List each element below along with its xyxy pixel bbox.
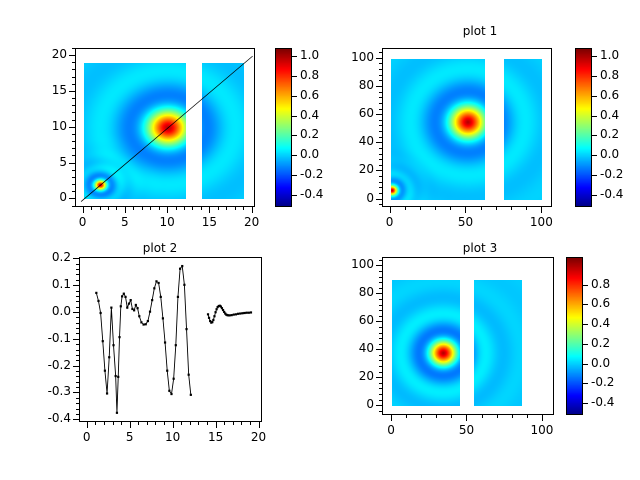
colorbar-tick: [583, 304, 588, 305]
y-minor-tick: [379, 310, 382, 311]
y-minor-tick: [379, 282, 382, 283]
y-major-tick: [376, 114, 382, 115]
y-minor-tick: [76, 414, 79, 415]
x-tick-label: 0: [365, 215, 415, 229]
x-minor-tick: [526, 207, 527, 210]
y-tick-label: 60: [324, 106, 374, 120]
colorbar-tick-label: 0.6: [591, 296, 610, 310]
colorbar-tick-label: 0.8: [591, 277, 610, 291]
y-minor-tick: [76, 371, 79, 372]
y-minor-tick: [76, 301, 79, 302]
y-minor-tick: [76, 382, 79, 383]
x-tick-label: 50: [441, 423, 491, 437]
x-minor-tick: [164, 422, 165, 425]
y-minor-tick: [76, 323, 79, 324]
y-minor-tick: [76, 333, 79, 334]
y-major-tick: [69, 127, 75, 128]
colorbar-tick: [592, 195, 597, 196]
colorbar-tick: [292, 155, 297, 156]
axes-top-right: [382, 48, 552, 207]
y-major-tick: [376, 377, 382, 378]
colorbar-tick-label: -0.4: [591, 395, 614, 409]
y-major-tick: [376, 199, 382, 200]
y-minor-tick: [379, 360, 382, 361]
x-minor-tick: [121, 422, 122, 425]
colorbar-tick: [292, 116, 297, 117]
x-minor-tick: [226, 207, 227, 210]
y-major-tick: [376, 142, 382, 143]
x-major-tick: [130, 422, 131, 428]
x-minor-tick: [113, 422, 114, 425]
colorbar-tick: [583, 403, 588, 404]
x-minor-tick: [497, 415, 498, 418]
y-minor-tick: [72, 62, 75, 63]
x-minor-tick: [184, 207, 185, 210]
axes-bottom-left: [79, 257, 262, 422]
subplot-bottom-left: plot 2 05101520-0.4-0.3-0.2-0.10.00.10.2: [0, 240, 320, 480]
x-minor-tick: [496, 207, 497, 210]
y-minor-tick: [379, 154, 382, 155]
line-series-bottom-left: [80, 258, 262, 422]
colorbar-gradient-top-left: [276, 49, 292, 207]
x-minor-tick: [207, 422, 208, 425]
colorbar-tick-label: 0.2: [591, 336, 610, 350]
y-minor-tick: [379, 69, 382, 70]
x-minor-tick: [241, 422, 242, 425]
subplot-bottom-right: plot 3 050100020406080100 -0.4-0.20.00.2…: [320, 240, 640, 480]
x-minor-tick: [198, 422, 199, 425]
colorbar-bottom-right: [566, 257, 583, 415]
x-minor-tick: [527, 415, 528, 418]
y-minor-tick: [76, 355, 79, 356]
colorbar-tick-label: 1.0: [600, 48, 619, 62]
x-minor-tick: [155, 422, 156, 425]
y-minor-tick: [72, 98, 75, 99]
y-minor-tick: [76, 387, 79, 388]
y-minor-tick: [72, 134, 75, 135]
colorbar-tick-label: 1.0: [300, 48, 319, 62]
y-minor-tick: [72, 48, 75, 49]
figure-canvas: 0510152005101520 -0.4-0.20.00.20.40.60.8…: [0, 0, 640, 480]
x-minor-tick: [250, 422, 251, 425]
y-tick-label: 100: [324, 257, 374, 271]
y-minor-tick: [76, 376, 79, 377]
y-minor-tick: [379, 103, 382, 104]
colorbar-tick-label: -0.2: [591, 375, 614, 389]
colorbar-tick: [292, 135, 297, 136]
y-minor-tick: [72, 69, 75, 70]
y-tick-label: 0: [324, 397, 374, 411]
x-minor-tick: [243, 207, 244, 210]
y-minor-tick: [379, 131, 382, 132]
colorbar-tick-label: 0.0: [591, 356, 610, 370]
y-minor-tick: [379, 182, 382, 183]
x-minor-tick: [150, 207, 151, 210]
y-major-tick: [376, 349, 382, 350]
y-tick-label: 40: [324, 134, 374, 148]
colorbar-top-left: [275, 48, 292, 207]
x-major-tick: [390, 207, 391, 213]
y-minor-tick: [379, 400, 382, 401]
y-minor-tick: [379, 271, 382, 272]
x-minor-tick: [233, 422, 234, 425]
y-major-tick: [69, 198, 75, 199]
x-major-tick: [83, 207, 84, 213]
colorbar-tick: [292, 56, 297, 57]
colorbar-tick: [583, 383, 588, 384]
y-minor-tick: [76, 307, 79, 308]
colorbar-tick: [592, 116, 597, 117]
y-tick-label: 0.1: [21, 277, 71, 291]
y-minor-tick: [379, 80, 382, 81]
y-tick-label: 20: [324, 369, 374, 383]
colorbar-tick: [592, 96, 597, 97]
colorbar-tick: [583, 285, 588, 286]
x-minor-tick: [176, 207, 177, 210]
y-tick-label: 0.0: [21, 304, 71, 318]
x-minor-tick: [406, 415, 407, 418]
y-major-tick: [73, 312, 79, 313]
x-major-tick: [252, 207, 253, 213]
y-minor-tick: [76, 360, 79, 361]
x-tick-label: 50: [440, 215, 490, 229]
y-minor-tick: [379, 193, 382, 194]
y-minor-tick: [72, 184, 75, 185]
x-tick-label: 100: [516, 215, 566, 229]
y-tick-label: 60: [324, 313, 374, 327]
colorbar-tick-label: 0.8: [300, 68, 319, 82]
y-major-tick: [376, 265, 382, 266]
colorbar-tick: [292, 195, 297, 196]
x-major-tick: [167, 207, 168, 213]
y-minor-tick: [72, 206, 75, 207]
colorbar-tick-label: 0.4: [600, 108, 619, 122]
colorbar-tick: [592, 155, 597, 156]
y-tick-label: 0.2: [21, 250, 71, 264]
y-minor-tick: [379, 75, 382, 76]
x-minor-tick: [481, 207, 482, 210]
x-minor-tick: [181, 422, 182, 425]
y-minor-tick: [76, 403, 79, 404]
y-minor-tick: [76, 269, 79, 270]
y-minor-tick: [379, 125, 382, 126]
x-tick-label: 100: [517, 423, 567, 437]
y-minor-tick: [76, 280, 79, 281]
y-minor-tick: [379, 204, 382, 205]
x-tick-label: 0: [366, 423, 416, 437]
y-tick-label: 40: [324, 341, 374, 355]
x-tick-label: 20: [234, 430, 284, 444]
y-minor-tick: [379, 148, 382, 149]
colorbar-tick: [292, 76, 297, 77]
y-minor-tick: [76, 317, 79, 318]
colorbar-gradient-top-right: [576, 49, 592, 207]
colorbar-tick: [592, 56, 597, 57]
y-minor-tick: [379, 372, 382, 373]
colorbar-tick-label: 0.8: [600, 68, 619, 82]
y-major-tick: [69, 91, 75, 92]
colorbar-tick-label: 0.2: [300, 127, 319, 141]
y-tick-label: 100: [324, 50, 374, 64]
colorbar-tick-label: 0.4: [300, 108, 319, 122]
y-tick-label: 0: [17, 190, 67, 204]
y-minor-tick: [72, 170, 75, 171]
y-minor-tick: [72, 120, 75, 121]
colorbar-tick-label: 0.0: [600, 147, 619, 161]
y-minor-tick: [72, 77, 75, 78]
y-major-tick: [73, 392, 79, 393]
colorbar-tick-label: 0.6: [300, 88, 319, 102]
y-minor-tick: [76, 409, 79, 410]
y-minor-tick: [379, 165, 382, 166]
x-minor-tick: [405, 207, 406, 210]
y-minor-tick: [72, 112, 75, 113]
y-minor-tick: [379, 338, 382, 339]
x-minor-tick: [142, 207, 143, 210]
y-tick-label: -0.1: [21, 331, 71, 345]
y-major-tick: [376, 405, 382, 406]
y-tick-label: -0.3: [21, 384, 71, 398]
x-minor-tick: [95, 422, 96, 425]
x-major-tick: [259, 422, 260, 428]
y-minor-tick: [72, 105, 75, 106]
y-tick-label: 5: [17, 155, 67, 169]
y-minor-tick: [76, 328, 79, 329]
subplot-title-top-right: plot 1: [320, 24, 640, 38]
colorbar-tick: [583, 364, 588, 365]
y-minor-tick: [72, 148, 75, 149]
y-major-tick: [69, 55, 75, 56]
x-minor-tick: [133, 207, 134, 210]
y-tick-label: 20: [324, 162, 374, 176]
colorbar-tick: [583, 324, 588, 325]
heatmap-image-top-right: [383, 49, 552, 207]
y-major-tick: [69, 163, 75, 164]
x-minor-tick: [192, 207, 193, 210]
y-minor-tick: [72, 84, 75, 85]
x-minor-tick: [218, 207, 219, 210]
y-major-tick: [376, 86, 382, 87]
colorbar-tick: [583, 344, 588, 345]
y-major-tick: [376, 293, 382, 294]
x-minor-tick: [138, 422, 139, 425]
y-minor-tick: [76, 264, 79, 265]
x-minor-tick: [435, 207, 436, 210]
y-minor-tick: [379, 52, 382, 53]
heatmap-image-bottom-right: [383, 258, 554, 415]
y-minor-tick: [379, 344, 382, 345]
y-minor-tick: [379, 383, 382, 384]
x-minor-tick: [420, 207, 421, 210]
y-minor-tick: [379, 305, 382, 306]
x-minor-tick: [482, 415, 483, 418]
colorbar-top-right: [575, 48, 592, 207]
x-major-tick: [216, 422, 217, 428]
y-tick-label: 10: [17, 119, 67, 133]
x-minor-tick: [147, 422, 148, 425]
x-minor-tick: [450, 207, 451, 210]
x-major-tick: [466, 415, 467, 421]
y-minor-tick: [72, 155, 75, 156]
subplot-top-right: plot 1 050100020406080100 -0.4-0.20.00.2…: [320, 0, 640, 240]
colorbar-tick-label: 0.6: [600, 88, 619, 102]
y-minor-tick: [76, 274, 79, 275]
x-minor-tick: [100, 207, 101, 210]
x-minor-tick: [190, 422, 191, 425]
y-major-tick: [376, 170, 382, 171]
y-minor-tick: [379, 120, 382, 121]
x-major-tick: [465, 207, 466, 213]
y-minor-tick: [379, 366, 382, 367]
y-tick-label: 80: [324, 78, 374, 92]
y-minor-tick: [379, 187, 382, 188]
y-tick-label: 80: [324, 285, 374, 299]
colorbar-tick-label: 0.2: [600, 127, 619, 141]
y-minor-tick: [72, 191, 75, 192]
axes-top-left: [75, 48, 255, 207]
y-minor-tick: [379, 97, 382, 98]
y-minor-tick: [72, 141, 75, 142]
y-minor-tick: [379, 411, 382, 412]
y-minor-tick: [379, 277, 382, 278]
colorbar-tick: [292, 96, 297, 97]
y-minor-tick: [379, 316, 382, 317]
y-major-tick: [73, 419, 79, 420]
y-minor-tick: [76, 291, 79, 292]
y-minor-tick: [379, 109, 382, 110]
x-major-tick: [173, 422, 174, 428]
y-major-tick: [73, 258, 79, 259]
y-minor-tick: [379, 394, 382, 395]
x-major-tick: [541, 207, 542, 213]
x-minor-tick: [511, 207, 512, 210]
colorbar-tick-label: 0.4: [591, 316, 610, 330]
axes-bottom-right: [382, 257, 554, 415]
colorbar-gradient-bottom-right: [567, 258, 583, 415]
y-tick-label: 0: [324, 191, 374, 205]
y-tick-label: -0.2: [21, 358, 71, 372]
y-minor-tick: [379, 137, 382, 138]
colorbar-tick-label: -0.4: [600, 187, 623, 201]
x-minor-tick: [421, 415, 422, 418]
x-minor-tick: [159, 207, 160, 210]
y-minor-tick: [379, 327, 382, 328]
colorbar-tick-label: -0.2: [600, 167, 623, 181]
colorbar-tick: [592, 175, 597, 176]
x-minor-tick: [116, 207, 117, 210]
x-major-tick: [391, 415, 392, 421]
y-minor-tick: [76, 398, 79, 399]
y-major-tick: [376, 321, 382, 322]
y-minor-tick: [76, 344, 79, 345]
x-minor-tick: [436, 415, 437, 418]
y-minor-tick: [379, 63, 382, 64]
y-minor-tick: [76, 350, 79, 351]
x-minor-tick: [91, 207, 92, 210]
x-major-tick: [542, 415, 543, 421]
y-major-tick: [376, 58, 382, 59]
x-tick-label: 20: [227, 215, 277, 229]
diagonal-overlay-top-left: [76, 49, 255, 207]
y-minor-tick: [76, 296, 79, 297]
y-tick-label: 20: [17, 47, 67, 61]
x-minor-tick: [108, 207, 109, 210]
y-minor-tick: [379, 92, 382, 93]
colorbar-tick-label: 0.0: [300, 147, 319, 161]
colorbar-tick: [592, 76, 597, 77]
y-minor-tick: [379, 299, 382, 300]
colorbar-tick: [592, 135, 597, 136]
x-minor-tick: [235, 207, 236, 210]
y-tick-label: -0.4: [21, 411, 71, 425]
y-minor-tick: [72, 177, 75, 178]
y-minor-tick: [379, 176, 382, 177]
x-major-tick: [87, 422, 88, 428]
x-minor-tick: [104, 422, 105, 425]
x-minor-tick: [201, 207, 202, 210]
y-minor-tick: [379, 333, 382, 334]
y-minor-tick: [379, 388, 382, 389]
y-major-tick: [73, 285, 79, 286]
subplot-top-left: 0510152005101520 -0.4-0.20.00.20.40.60.8…: [0, 0, 320, 240]
x-major-tick: [125, 207, 126, 213]
colorbar-tick: [292, 175, 297, 176]
x-minor-tick: [451, 415, 452, 418]
y-minor-tick: [379, 355, 382, 356]
y-minor-tick: [379, 159, 382, 160]
subplot-title-bottom-right: plot 3: [320, 241, 640, 255]
x-minor-tick: [224, 422, 225, 425]
y-minor-tick: [379, 288, 382, 289]
x-major-tick: [209, 207, 210, 213]
y-major-tick: [73, 366, 79, 367]
y-minor-tick: [379, 260, 382, 261]
x-minor-tick: [512, 415, 513, 418]
y-major-tick: [73, 339, 79, 340]
y-tick-label: 15: [17, 83, 67, 97]
